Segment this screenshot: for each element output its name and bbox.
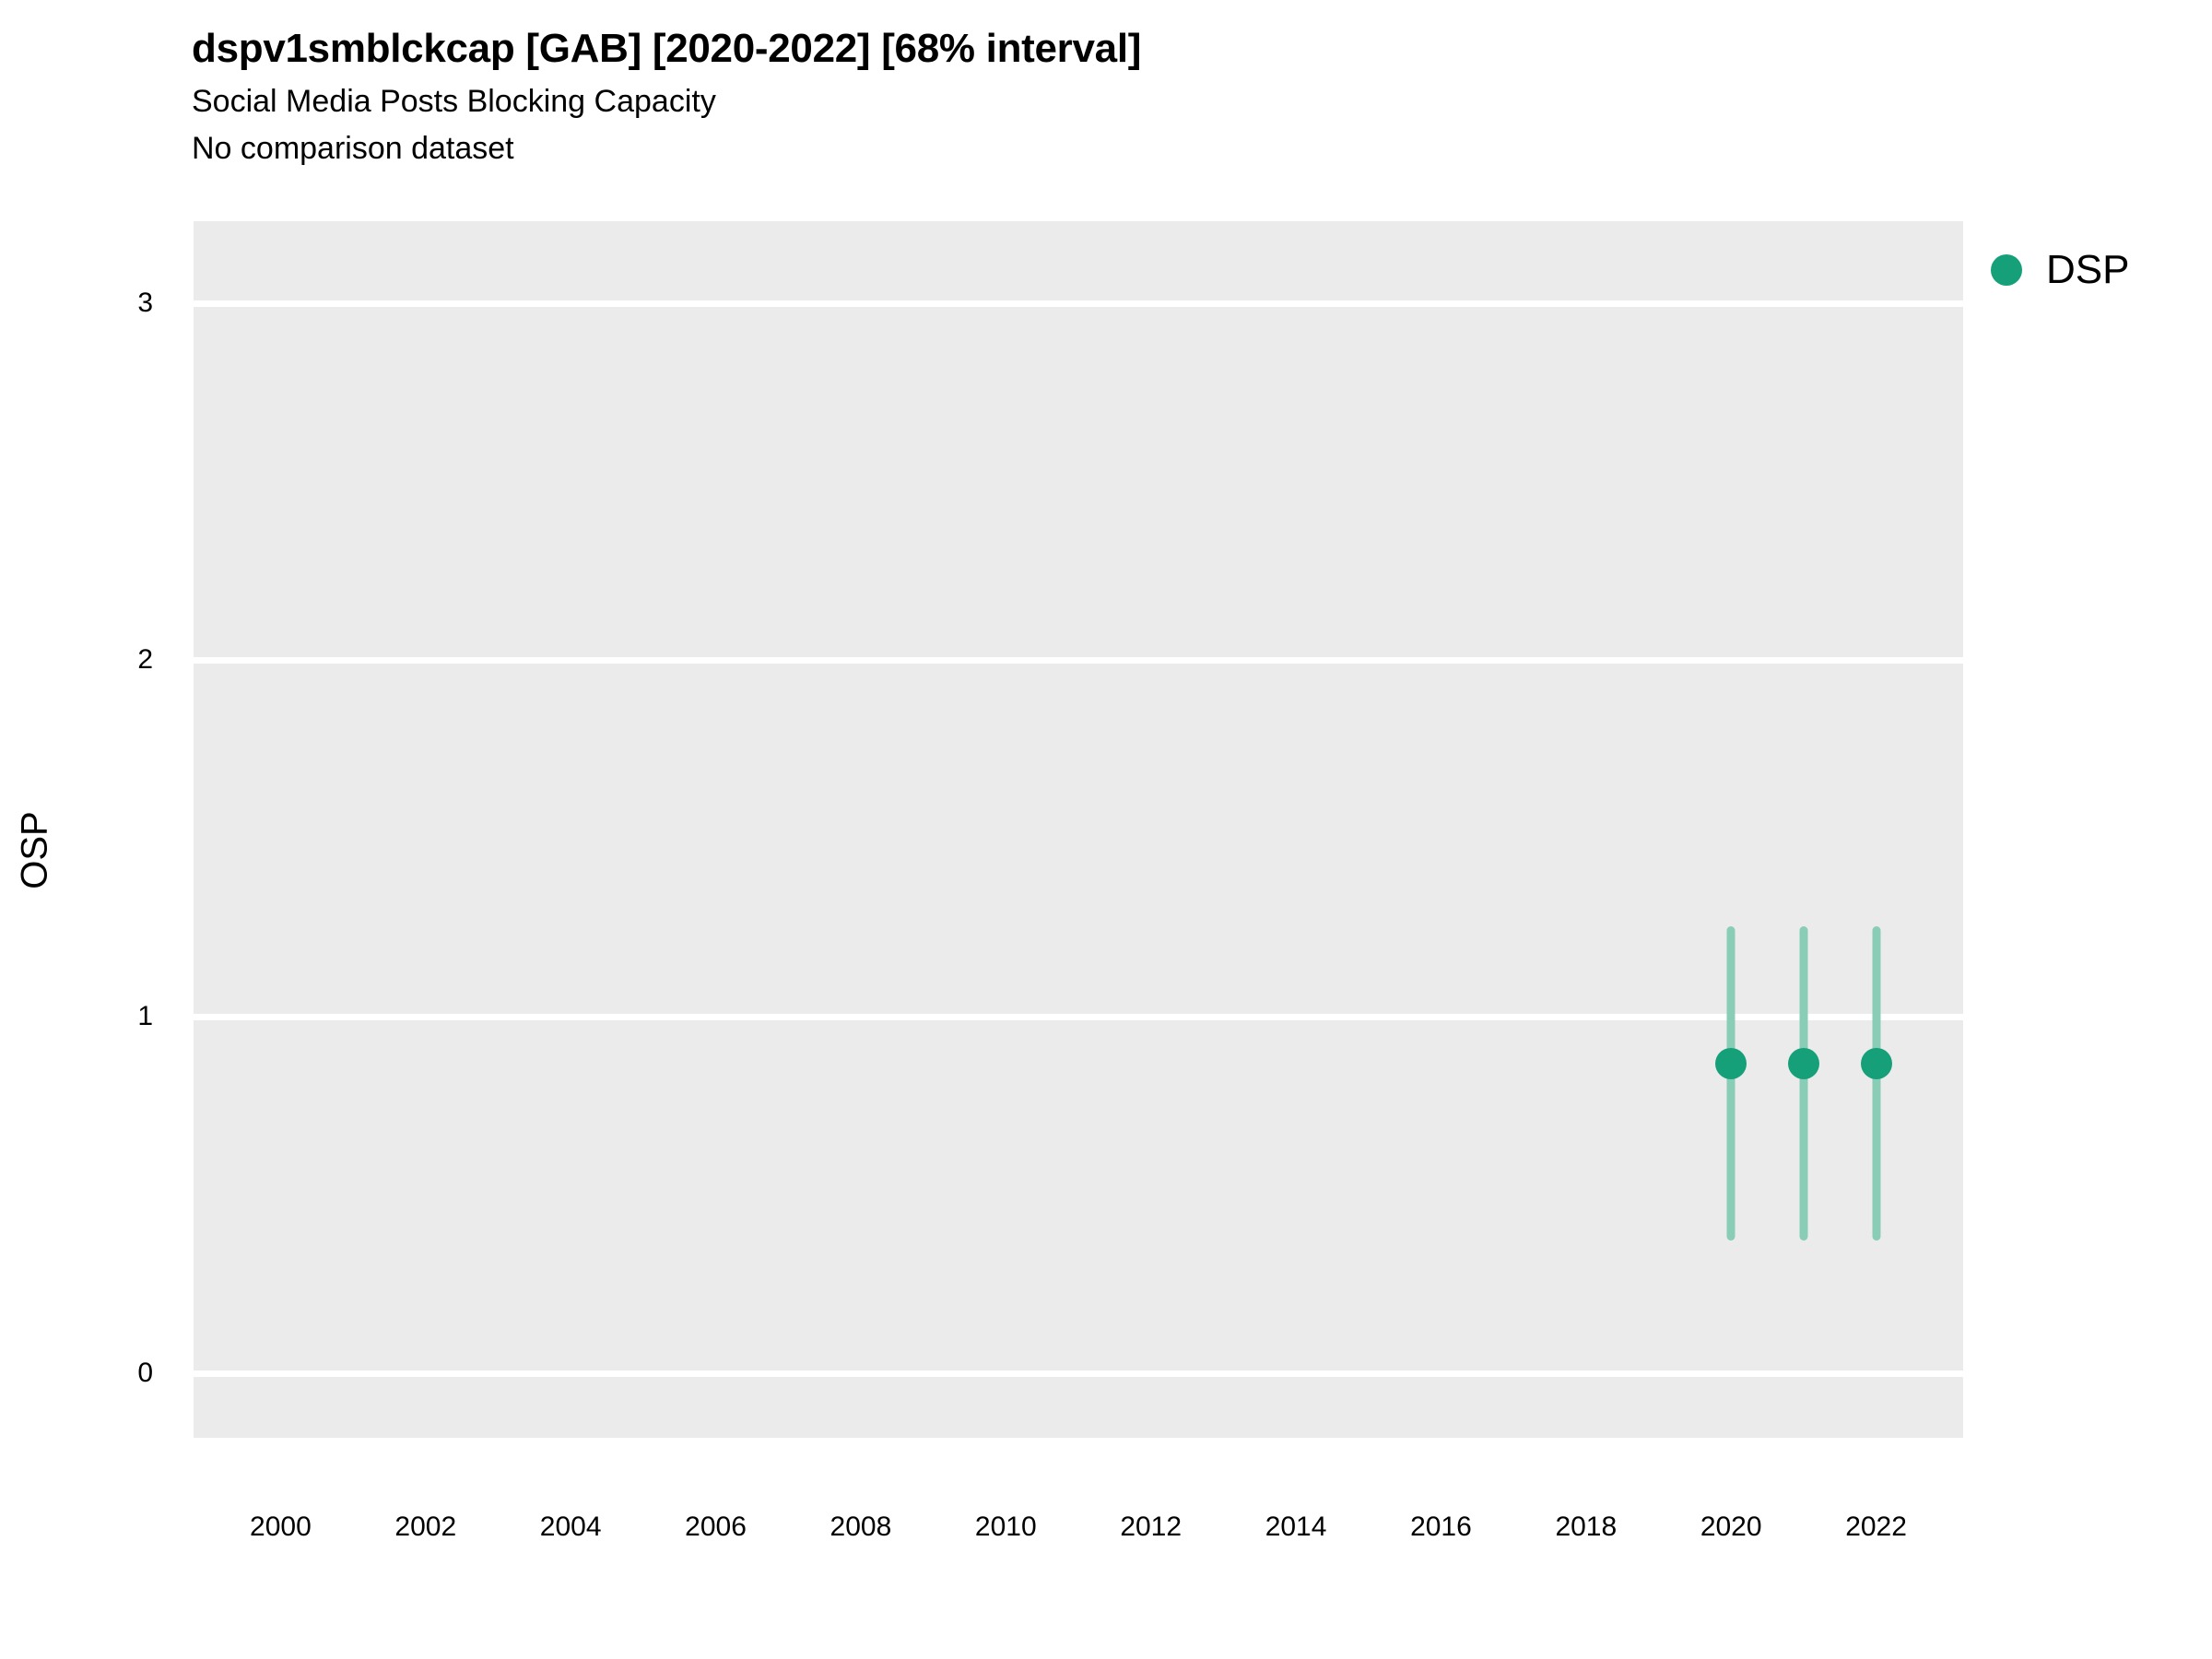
legend-circle-icon bbox=[1991, 254, 2022, 286]
x-tick-label-2010: 2010 bbox=[975, 1512, 1037, 1543]
data-point[interactable] bbox=[1715, 1048, 1747, 1079]
page-title: dspv1smblckcap [GAB] [2020-2022] [68% in… bbox=[192, 26, 1943, 71]
x-tick-label-2016: 2016 bbox=[1410, 1512, 1472, 1543]
data-point[interactable] bbox=[1788, 1048, 1819, 1079]
x-tick-label-2006: 2006 bbox=[685, 1512, 747, 1543]
x-tick-label-2000: 2000 bbox=[250, 1512, 312, 1543]
x-tick-label-2014: 2014 bbox=[1265, 1512, 1327, 1543]
x-tick-label-2020: 2020 bbox=[1700, 1512, 1762, 1543]
error-bar bbox=[1727, 926, 1735, 1241]
x-tick-label-2008: 2008 bbox=[830, 1512, 892, 1543]
y-tick-label-0: 0 bbox=[137, 1358, 153, 1389]
error-bar bbox=[1799, 926, 1807, 1241]
x-tick-label-2022: 2022 bbox=[1845, 1512, 1907, 1543]
chart-caption: No comparison dataset bbox=[192, 129, 1943, 169]
y-tick-label-2: 2 bbox=[137, 644, 153, 676]
y-tick-label-1: 1 bbox=[137, 1001, 153, 1032]
y-axis-tick-labels: 0123 bbox=[0, 221, 175, 1438]
chart-subtitle: Social Media Posts Blocking Capacity bbox=[192, 82, 1943, 122]
x-tick-label-2002: 2002 bbox=[394, 1512, 456, 1543]
x-tick-label-2018: 2018 bbox=[1555, 1512, 1617, 1543]
data-point[interactable] bbox=[1861, 1048, 1892, 1079]
x-tick-label-2004: 2004 bbox=[540, 1512, 602, 1543]
x-tick-label-2012: 2012 bbox=[1120, 1512, 1182, 1543]
data-layer bbox=[194, 221, 1963, 1438]
error-bar bbox=[1872, 926, 1880, 1241]
plot-panel bbox=[194, 221, 1963, 1438]
legend-label: DSP bbox=[2046, 247, 2129, 293]
x-axis-tick-labels: 2000200220042006200820102012201420162018… bbox=[194, 1512, 1963, 1558]
chart-header: dspv1smblckcap [GAB] [2020-2022] [68% in… bbox=[192, 26, 1943, 168]
y-tick-label-3: 3 bbox=[137, 288, 153, 319]
legend: DSP bbox=[1991, 247, 2129, 293]
